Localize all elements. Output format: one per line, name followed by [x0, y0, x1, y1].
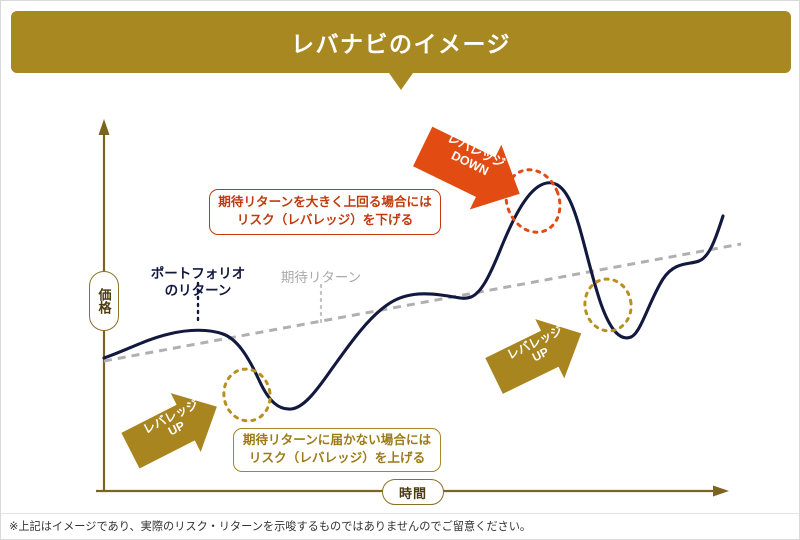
header-banner: レバナビのイメージ [11, 11, 791, 73]
arrow-leverage-up-right-icon [480, 304, 596, 406]
callout-leverage-up-line1: 期待リターンに届かない場合には [243, 432, 431, 450]
portfolio-return-label-line2: のリターン [138, 282, 258, 299]
callout-leverage-down-line2: リスク（レバレッジ）を下げる [237, 212, 413, 230]
y-axis-arrowhead [99, 119, 110, 135]
callout-leverage-down-line1: 期待リターンを大きく上回る場合には [218, 194, 431, 212]
portfolio-return-label: ポートフォリオ のリターン [138, 265, 258, 300]
footnote-divider [1, 513, 800, 514]
portfolio-return-label-line1: ポートフォリオ [138, 265, 258, 282]
banner-body: レバナビのイメージ [11, 11, 791, 73]
callout-leverage-up: 期待リターンに届かない場合には リスク（レバレッジ）を上げる [233, 428, 441, 472]
x-axis-label-text: 時間 [399, 483, 427, 502]
arrow-leverage-up-left-icon [115, 377, 231, 480]
callout-leverage-down: 期待リターンを大きく上回る場合には リスク（レバレッジ）を下げる [209, 189, 441, 235]
y-axis-label-pill: 価格 [89, 271, 119, 331]
callout-leverage-up-line2: リスク（レバレッジ）を上げる [249, 450, 425, 468]
y-axis-label-text: 価格 [98, 288, 111, 314]
highlight-trough-right-ellipse [581, 275, 635, 334]
expected-return-line [104, 244, 741, 361]
x-axis-label-pill: 時間 [382, 479, 444, 505]
diagram-page: レバナビのイメージ [0, 0, 800, 540]
banner-title: レバナビのイメージ [291, 25, 511, 59]
expected-return-label: 期待リターン [266, 269, 376, 286]
x-axis-arrowhead [713, 486, 729, 497]
footnote-text: ※上記はイメージであり、実際のリスク・リターンを示唆するものではありませんのでご… [9, 518, 709, 534]
